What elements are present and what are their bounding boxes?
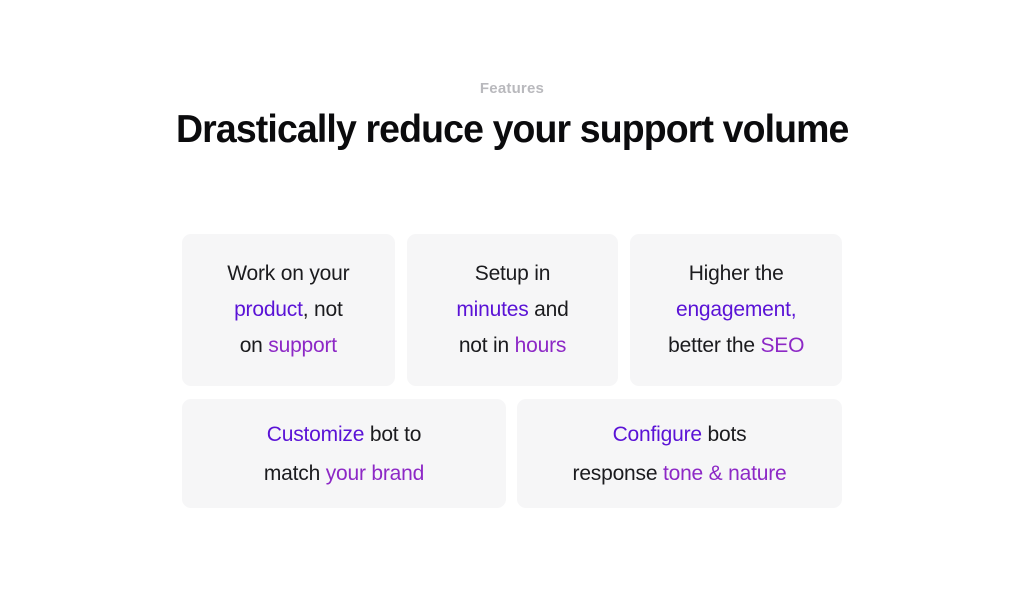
feature-card-customize-bot[interactable]: Customize bot tomatch your brand [182, 399, 506, 508]
text-segment: , not [303, 298, 343, 321]
feature-card-setup-in-minutes[interactable]: Setup inminutes andnot in hours [407, 234, 619, 386]
highlight-segment: support [268, 334, 337, 357]
highlight-segment: minutes [456, 298, 528, 321]
feature-card-higher-engagement[interactable]: Higher theengagement,better the SEO [630, 234, 842, 386]
feature-card-configure-bots[interactable]: Configure botsresponse tone & nature [517, 399, 842, 508]
feature-card-text: Setup inminutes andnot in hours [444, 256, 580, 364]
highlight-segment: Configure [613, 423, 702, 446]
highlight-segment: tone & nature [663, 462, 787, 485]
highlight-segment: Customize [267, 423, 364, 446]
text-segment: bots [702, 423, 747, 446]
highlight-segment: hours [515, 334, 567, 357]
page-title: Drastically reduce your support volume [176, 108, 849, 153]
highlight-segment: SEO [760, 334, 804, 357]
feature-card-text: Work on yourproduct, noton support [215, 256, 361, 364]
feature-card-text: Configure botsresponse tone & nature [561, 415, 799, 493]
text-segment: better the [668, 334, 760, 357]
feature-card-work-on-your-product[interactable]: Work on yourproduct, noton support [182, 234, 395, 386]
text-segment: bot to [364, 423, 421, 446]
feature-card-text: Higher theengagement,better the SEO [656, 256, 816, 364]
feature-card-row-bottom: Customize bot tomatch your brand Configu… [182, 399, 842, 508]
highlight-segment: your brand [326, 462, 424, 485]
text-segment: Higher the [689, 262, 784, 285]
feature-card-text: Customize bot tomatch your brand [252, 415, 436, 493]
text-segment: response [573, 462, 663, 485]
feature-card-grid: Work on yourproduct, noton support Setup… [182, 234, 842, 508]
section-eyebrow-label: Features [480, 80, 544, 98]
text-segment: Work on your [227, 262, 349, 285]
text-segment: and [529, 298, 569, 321]
feature-card-row-top: Work on yourproduct, noton support Setup… [182, 234, 842, 386]
text-segment: on [240, 334, 269, 357]
features-section: Features Drastically reduce your support… [0, 0, 1024, 612]
highlight-segment: product [234, 298, 303, 321]
highlight-segment: engagement, [676, 298, 796, 321]
text-segment: not in [459, 334, 515, 357]
text-segment: match [264, 462, 326, 485]
text-segment: Setup in [475, 262, 550, 285]
